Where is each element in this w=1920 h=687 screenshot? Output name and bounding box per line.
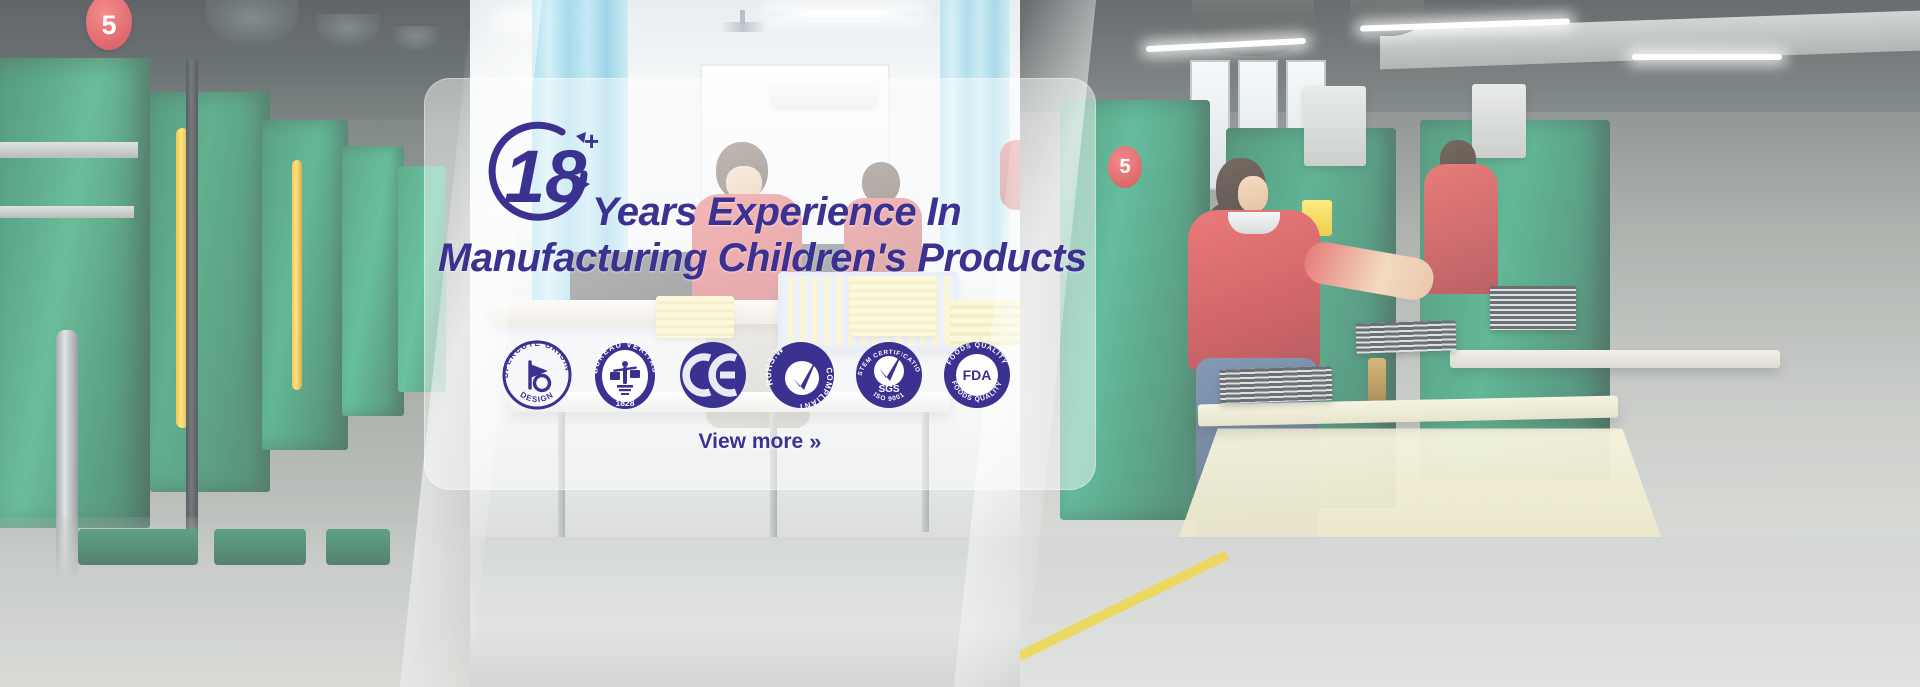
supercute-original-design-badge: SUPERCUTE ORIGINAL DESIGN [500, 338, 574, 412]
view-more-link[interactable]: View more » [699, 430, 822, 454]
hero-banner: 18 + Years Experience In Manufacturing C… [0, 0, 1920, 687]
bureau-veritas-badge: BUREAU VERITAS 1828 [588, 338, 662, 412]
banner-content: 18 + Years Experience In Manufacturing C… [424, 78, 1096, 490]
factory-photo-left [0, 0, 470, 687]
fda-label: FDA [963, 367, 992, 383]
supercute-arc-bottom: DESIGN [519, 390, 556, 404]
chevron-right-icon: » [809, 431, 821, 453]
rohs-compliant-badge: RoHS.W COMPLIANT [764, 338, 838, 412]
fda-foods-quality-badge: FOODS QUALITY FOODS QUALITY FDA [940, 338, 1014, 412]
svg-text:DESIGN: DESIGN [519, 390, 556, 404]
years-number: 18 [504, 135, 587, 218]
view-more-container: View more » [424, 430, 1096, 454]
headline-line-2: Manufacturing Children's Products [438, 236, 1087, 280]
factory-photo-right [1020, 0, 1920, 687]
certification-badge-row: SUPERCUTE ORIGINAL DESIGN [500, 336, 1072, 414]
view-more-label: View more [699, 430, 804, 454]
years-plus-sign: + [584, 126, 599, 156]
sgs-label: SGS [878, 384, 899, 395]
ce-mark-badge [676, 338, 750, 412]
bureau-veritas-year: 1828 [616, 398, 635, 408]
headline-line-1: Years Experience In [592, 190, 961, 234]
sgs-system-certification-badge: SYSTEM CERTIFICATION ISO 9001 SGS [852, 338, 926, 412]
